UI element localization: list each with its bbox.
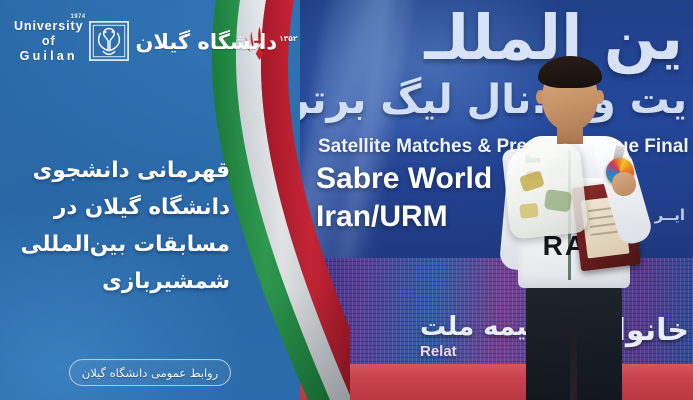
gift-bag-item [519, 203, 538, 219]
athlete-leg-gap [570, 324, 577, 400]
backdrop-english-line2: Sabre World [316, 162, 492, 196]
headline-line-4: شمشیربازی [14, 263, 230, 300]
athlete-figure: RAN [496, 54, 656, 400]
university-logo[interactable]: 1974 University of Guilan ۱۳۵۲دانشگاه گی… [14, 17, 229, 65]
athlete-hair [538, 56, 602, 88]
athlete-photo: ین المللـ یت و ...نال لیگ برتر Satellite… [300, 0, 693, 400]
news-banner: ین المللـ یت و ...نال لیگ برتر Satellite… [0, 0, 693, 400]
gift-bag-item [519, 170, 545, 192]
logo-persian-name: دانشگاه گیلان [135, 30, 277, 54]
public-relations-badge-label: روابط عمومی دانشگاه گیلان [82, 366, 219, 380]
gift-bag [502, 142, 589, 240]
backdrop-english-line3: Iran/URM [316, 200, 448, 234]
logo-year-fa: ۱۳۵۲ [279, 34, 297, 43]
sponsor-label-left-en: Relat [420, 343, 457, 360]
gift-bag-knot [527, 136, 558, 159]
logo-english-text: 1974 University of Guilan [14, 19, 83, 64]
backdrop-persian-small: ایــر [655, 206, 685, 224]
plaque-text-line [591, 230, 621, 236]
gift-bag-item [544, 189, 573, 212]
guilan-emblem-icon [88, 20, 130, 62]
logo-english-line2: Guilan [14, 49, 83, 64]
logo-persian-text: ۱۳۵۲دانشگاه گیلان [135, 24, 297, 57]
public-relations-badge[interactable]: روابط عمومی دانشگاه گیلان [69, 359, 231, 386]
news-headline: قهرمانی دانشجوی دانشگاه گیلان در مسابقات… [14, 152, 230, 300]
headline-line-2: دانشگاه گیلان در [14, 189, 230, 226]
logo-year-en: 1974 [71, 10, 86, 25]
headline-line-1: قهرمانی دانشجوی [14, 152, 230, 189]
headline-line-3: مسابقات بین‌المللی [14, 226, 230, 263]
